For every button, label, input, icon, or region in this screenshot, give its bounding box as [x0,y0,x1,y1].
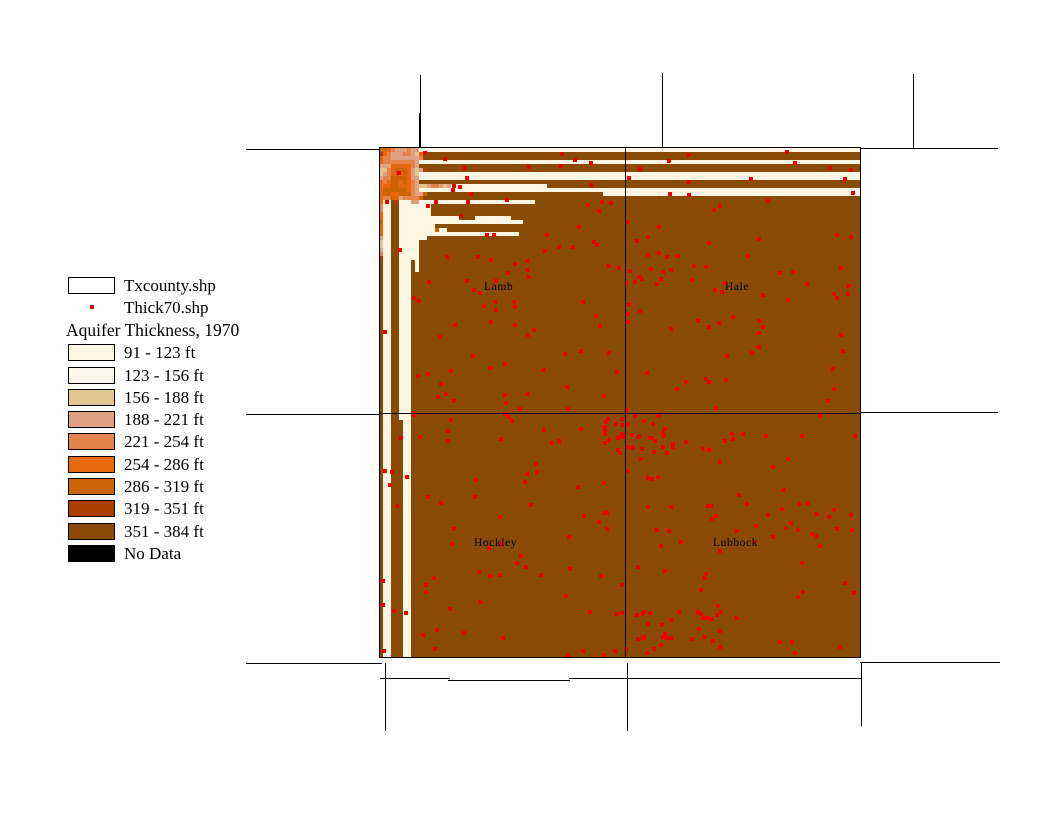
county-boundary-line [448,680,570,681]
legend-layer-thick70[interactable]: Thick70.shp [68,296,298,318]
county-boundary-line [860,412,998,413]
county-boundary-line [860,662,1000,663]
legend-class-5[interactable]: 254 - 286 ft [68,453,298,475]
legend-title: Aquifer Thickness, 1970 [66,319,298,342]
class-label: 351 - 384 ft [124,523,204,540]
legend-class-8[interactable]: 351 - 384 ft [68,520,298,542]
class-swatch [68,344,115,361]
county-boundary-line [569,678,861,679]
county-boundary-line [380,678,450,679]
map-legend: Txcounty.shp Thick70.shp Aquifer Thickne… [68,274,298,565]
class-label: 286 - 319 ft [124,478,204,495]
legend-class-3[interactable]: 188 - 221 ft [68,408,298,430]
legend-layer-label: Thick70.shp [124,299,209,316]
county-boundary-line [625,148,626,658]
point-symbol [68,305,115,309]
county-boundary-line [662,73,663,149]
county-boundary-line [858,148,998,149]
county-boundary-line [627,663,628,731]
county-boundary-line [246,663,382,664]
class-label: 123 - 156 ft [124,367,204,384]
legend-class-6[interactable]: 286 - 319 ft [68,475,298,497]
legend-layer-label: Txcounty.shp [124,277,216,294]
county-boundary-line [861,663,862,726]
class-swatch [68,433,115,450]
class-swatch [68,478,115,495]
class-label: 91 - 123 ft [124,344,195,361]
county-label-hockley: Hockley [474,537,517,549]
legend-class-7[interactable]: 319 - 351 ft [68,498,298,520]
class-label: No Data [124,545,181,562]
class-label: 156 - 188 ft [124,389,204,406]
class-swatch [68,411,115,428]
class-label: 254 - 286 ft [124,456,204,473]
class-swatch [68,367,115,384]
county-boundary-line [419,113,420,149]
legend-class-4[interactable]: 221 - 254 ft [68,431,298,453]
county-boundary-line [913,74,914,149]
class-label: 221 - 254 ft [124,433,204,450]
county-boundary-line [379,413,861,414]
class-label: 188 - 221 ft [124,411,204,428]
legend-class-0[interactable]: 91 - 123 ft [68,342,298,364]
class-swatch [68,545,115,562]
county-boundary-line [379,657,861,658]
county-label-lamb: Lamb [484,281,513,293]
county-boundary-line [385,663,386,731]
legend-class-2[interactable]: 156 - 188 ft [68,386,298,408]
aquifer-thickness-raster [379,148,861,658]
county-boundary-line [246,149,381,150]
class-label: 319 - 351 ft [124,500,204,517]
class-swatch [68,389,115,406]
legend-class-9[interactable]: No Data [68,542,298,564]
class-swatch [68,456,115,473]
county-boundary-line [379,147,861,148]
legend-layer-txcounty[interactable]: Txcounty.shp [68,274,298,296]
county-label-lubbock: Lubbock [713,537,758,549]
class-swatch [68,523,115,540]
class-swatch [68,500,115,517]
county-outline-swatch [68,277,115,294]
county-label-hale: Hale [725,281,749,293]
county-boundary-line [860,148,861,658]
county-boundary-line [379,148,380,658]
legend-class-1[interactable]: 123 - 156 ft [68,364,298,386]
